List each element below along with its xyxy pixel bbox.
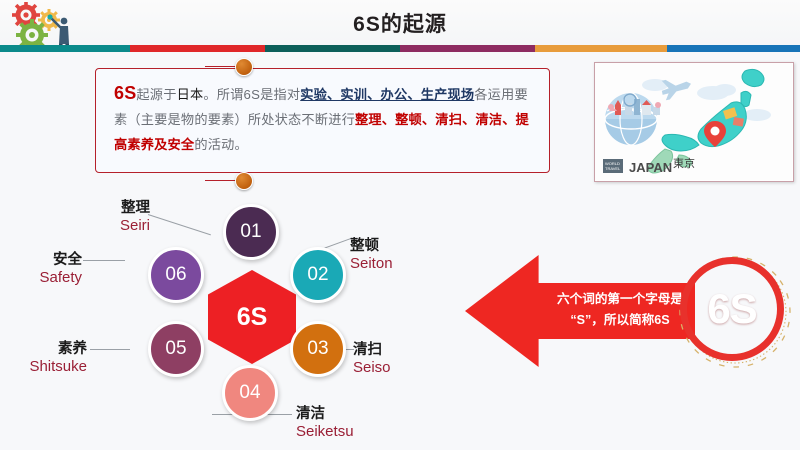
node-01-number: 01: [240, 221, 261, 243]
header-bar-segment-purple: [400, 45, 535, 52]
center-hexagon-label: 6S: [237, 303, 268, 332]
connector-06: [83, 260, 125, 261]
header-bar-segment-blue: [667, 45, 800, 52]
label-04-cn: 清洁: [296, 402, 354, 423]
header-bar-segment-orange: [535, 45, 667, 52]
text-scenes: 实验、实训、办公、生产现场: [300, 87, 474, 102]
callout-line-1: 六个词的第一个字母是: [545, 289, 695, 310]
node-02-seiton[interactable]: 02: [290, 247, 346, 303]
badge-label: 6S: [680, 257, 784, 361]
label-06-en: Safety: [22, 269, 82, 286]
label-05-shitsuke: 素养 Shitsuke: [5, 337, 87, 375]
svg-text:TRAVEL: TRAVEL: [605, 166, 621, 171]
label-05-cn: 素养: [5, 337, 87, 358]
slide-canvas: 6S的起源 6S起源于日本。所谓6S是指对实验、实训、办公、生产现场各运用要素（…: [0, 0, 800, 450]
text-tail: 的活动。: [194, 137, 248, 152]
label-03-cn: 清扫: [353, 338, 391, 359]
text-period: 。所谓6S是指对: [203, 87, 300, 102]
header-bar-segment-teal: [0, 45, 130, 52]
node-02-number: 02: [307, 264, 328, 286]
node-06-number: 06: [165, 264, 186, 286]
text-origin: 起源于: [136, 87, 176, 102]
slide-header: 6S的起源: [0, 0, 800, 52]
dot-leader-bottom: [205, 180, 238, 182]
page-title: 6S的起源: [0, 8, 800, 38]
label-02-cn: 整顿: [350, 234, 393, 255]
node-01-seiri[interactable]: 01: [223, 204, 279, 260]
orange-bullet-bottom-icon: [235, 172, 253, 190]
label-04-en: Seiketsu: [296, 423, 354, 440]
label-02-en: Seiton: [350, 255, 393, 272]
text-japan: 日本: [177, 87, 204, 102]
label-03-en: Seiso: [353, 359, 391, 376]
dot-leader-top: [205, 66, 238, 68]
node-05-shitsuke[interactable]: 05: [148, 321, 204, 377]
node-06-safety[interactable]: 06: [148, 247, 204, 303]
label-06-safety: 安全 Safety: [22, 248, 82, 286]
six-s-badge: 6S: [676, 253, 794, 371]
header-color-bar: [0, 45, 800, 52]
text-6s-lead: 6S: [114, 83, 136, 103]
label-01-cn: 整理: [90, 196, 150, 217]
definition-text: 6S起源于日本。所谓6S是指对实验、实训、办公、生产现场各运用要素（主要是物的要…: [114, 81, 539, 157]
node-03-seiso[interactable]: 03: [290, 321, 346, 377]
label-01-seiri: 整理 Seiri: [90, 196, 150, 234]
label-03-seiso: 清扫 Seiso: [353, 338, 391, 376]
center-hexagon-6s: 6S: [208, 270, 296, 364]
definition-textbox: 6S起源于日本。所谓6S是指对实验、实训、办公、生产现场各运用要素（主要是物的要…: [95, 68, 550, 173]
label-02-seiton: 整顿 Seiton: [350, 234, 393, 272]
connector-05: [90, 349, 130, 350]
label-04-seiketsu: 清洁 Seiketsu: [296, 402, 354, 440]
orange-bullet-top-icon: [235, 58, 253, 76]
node-04-number: 04: [239, 382, 260, 404]
six-s-hexagon-diagram: 6S 01 02 03 04 05 06 整理 Seiri 整顿 Seiton: [30, 192, 460, 447]
node-05-number: 05: [165, 338, 186, 360]
connector-01: [148, 214, 211, 235]
callout-text: 六个词的第一个字母是 “S”，所以简称6S: [545, 289, 695, 331]
node-03-number: 03: [307, 338, 328, 360]
image-city-text: 東京: [673, 156, 695, 170]
label-06-cn: 安全: [22, 248, 82, 269]
label-05-en: Shitsuke: [5, 358, 87, 375]
callout-line-2: “S”，所以简称6S: [545, 310, 695, 331]
label-01-en: Seiri: [90, 217, 150, 234]
japan-travel-map-image: WORLD TRAVEL JAPAN 東京: [594, 62, 794, 182]
node-04-seiketsu[interactable]: 04: [222, 365, 278, 421]
callout-arrow: 六个词的第一个字母是 “S”，所以简称6S: [465, 255, 695, 367]
header-bar-segment-dark-teal: [265, 45, 400, 52]
header-bar-segment-red: [130, 45, 265, 52]
image-country-text: JAPAN: [629, 160, 672, 175]
